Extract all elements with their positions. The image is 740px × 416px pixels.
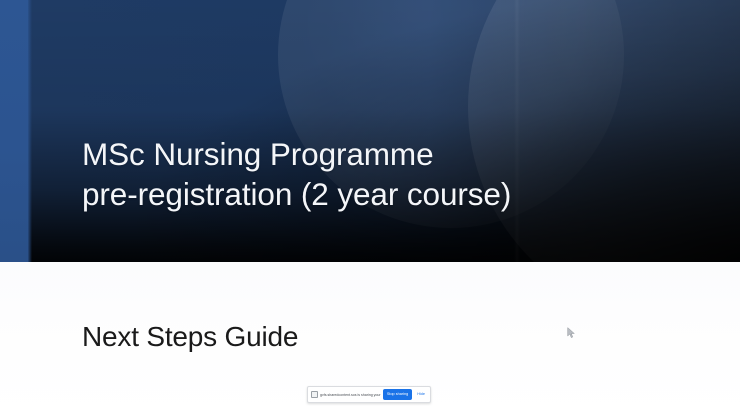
slide-header-band: MSc Nursing Programme pre-registration (… (0, 0, 740, 262)
slide-subtitle: Next Steps Guide (82, 319, 298, 355)
header-band-shadow-overlay (0, 0, 740, 262)
screen-sharing-infobar[interactable]: gvfs.sharedcontent.sos is sharing your s… (307, 386, 431, 403)
left-accent-strip (0, 0, 28, 262)
slide-title: MSc Nursing Programme pre-registration (… (82, 134, 682, 214)
screen-share-icon (311, 391, 318, 398)
sharing-message-text: gvfs.sharedcontent.sos is sharing your s… (320, 392, 381, 398)
stop-sharing-button[interactable]: Stop sharing (383, 389, 412, 400)
left-accent-strip-edge (28, 0, 32, 262)
hide-infobar-button[interactable]: Hide (414, 389, 428, 400)
presentation-slide: MSc Nursing Programme pre-registration (… (0, 0, 740, 416)
